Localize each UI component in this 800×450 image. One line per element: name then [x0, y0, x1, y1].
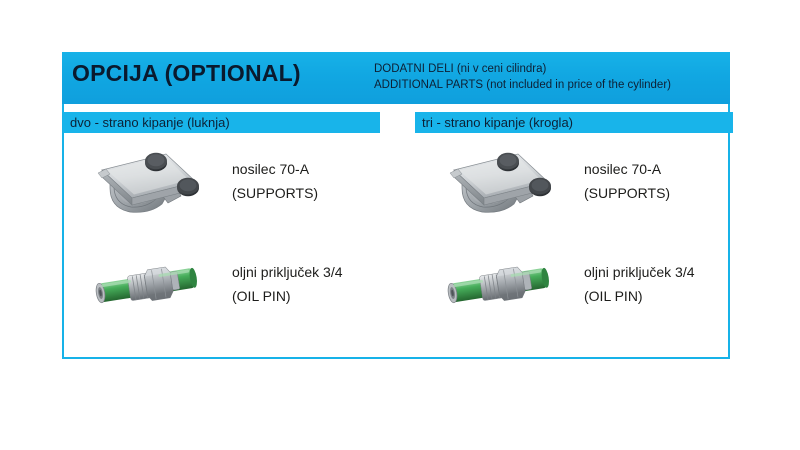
- list-item-caption: oljni priključek 3/4 (OIL PIN): [584, 260, 695, 308]
- oil-pin-icon: [436, 249, 564, 323]
- list-item-caption: nosilec 70-A (SUPPORTS): [232, 157, 318, 205]
- figure-body: dvo - strano kipanje (luknja) tri - stra…: [62, 104, 730, 359]
- list-item-label-sl: nosilec 70-A: [584, 157, 670, 181]
- figure-banner: OPCIJA (OPTIONAL) DODATNI DELI (ni v cen…: [62, 52, 730, 104]
- list-item-label-en: (OIL PIN): [584, 284, 695, 308]
- list-item-label-sl: nosilec 70-A: [232, 157, 318, 181]
- list-item: nosilec 70-A (SUPPORTS): [84, 146, 404, 220]
- list-item-label-en: (SUPPORTS): [232, 181, 318, 205]
- column-header-label-dvo: dvo - strano kipanje (luknja): [63, 115, 230, 130]
- column-header-bar-tri: tri - strano kipanje (krogla): [415, 112, 733, 133]
- bracket-support-icon: [84, 146, 212, 220]
- list-item-caption: nosilec 70-A (SUPPORTS): [584, 157, 670, 205]
- list-item-label-en: (OIL PIN): [232, 284, 343, 308]
- list-item: oljni priključek 3/4 (OIL PIN): [84, 249, 404, 323]
- list-item-label-sl: oljni priključek 3/4: [584, 260, 695, 284]
- list-item: oljni priključek 3/4 (OIL PIN): [436, 249, 736, 323]
- list-item-label-en: (SUPPORTS): [584, 181, 670, 205]
- column-header-label-tri: tri - strano kipanje (krogla): [415, 115, 573, 130]
- oil-pin-icon: [84, 249, 212, 323]
- banner-note-line-en: ADDITIONAL PARTS (not included in price …: [374, 77, 724, 93]
- list-item-label-sl: oljni priključek 3/4: [232, 260, 343, 284]
- list-item-caption: oljni priključek 3/4 (OIL PIN): [232, 260, 343, 308]
- bracket-support-icon: [436, 146, 564, 220]
- column-header-bar-dvo: dvo - strano kipanje (luknja): [63, 112, 380, 133]
- banner-note-line-sl: DODATNI DELI (ni v ceni cilindra): [374, 61, 724, 77]
- page-title: OPCIJA (OPTIONAL): [72, 60, 301, 87]
- optional-parts-figure: OPCIJA (OPTIONAL) DODATNI DELI (ni v cen…: [62, 52, 730, 359]
- banner-note: DODATNI DELI (ni v ceni cilindra) ADDITI…: [374, 61, 724, 93]
- list-item: nosilec 70-A (SUPPORTS): [436, 146, 736, 220]
- page-root: OPCIJA (OPTIONAL) DODATNI DELI (ni v cen…: [0, 0, 800, 450]
